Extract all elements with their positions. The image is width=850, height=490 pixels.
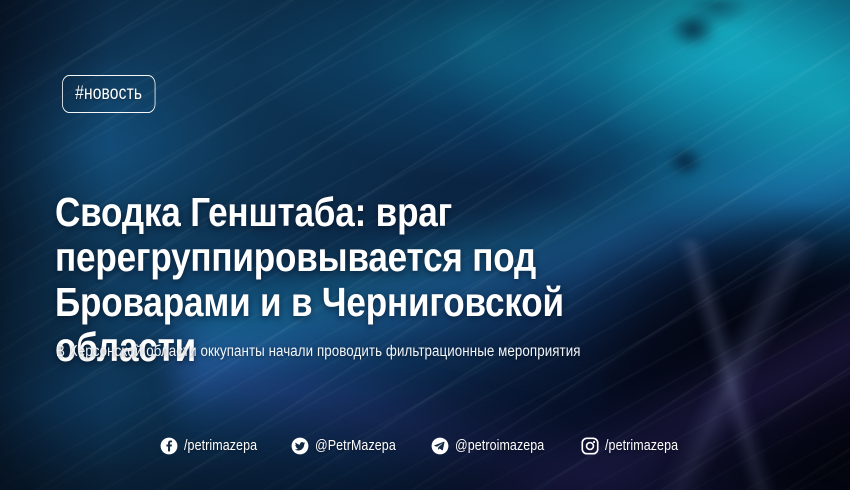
- card-content: #новость Сводка Генштаба: враг перегрупп…: [0, 0, 850, 490]
- twitter-icon: [291, 437, 309, 455]
- social-link-facebook[interactable]: /petrimazepa: [160, 437, 269, 455]
- social-link-instagram[interactable]: /petrimazepa: [581, 437, 690, 455]
- facebook-icon: [160, 437, 178, 455]
- category-badge[interactable]: #новость: [62, 75, 155, 113]
- instagram-icon: [581, 437, 599, 455]
- twitter-handle: @PetrMazepa: [315, 438, 396, 454]
- social-link-telegram[interactable]: @petroimazepa: [431, 437, 559, 455]
- telegram-icon: [431, 437, 449, 455]
- social-link-twitter[interactable]: @PetrMazepa: [291, 437, 409, 455]
- news-card: #новость Сводка Генштаба: враг перегрупп…: [0, 0, 850, 490]
- telegram-handle: @petroimazepa: [455, 438, 544, 454]
- facebook-handle: /petrimazepa: [184, 438, 257, 454]
- subtitle: В Херсонской области оккупанты начали пр…: [56, 342, 710, 362]
- social-links-row: /petrimazepa @PetrMazepa: [0, 437, 850, 455]
- instagram-handle: /petrimazepa: [605, 438, 678, 454]
